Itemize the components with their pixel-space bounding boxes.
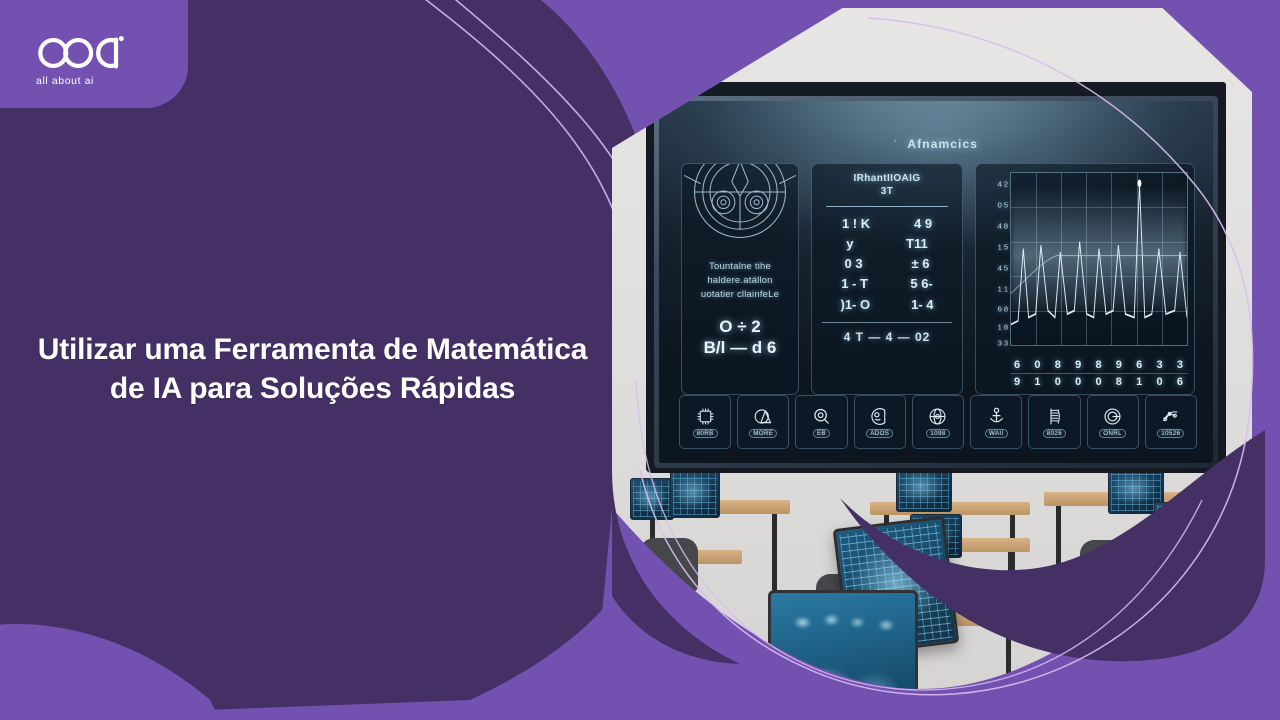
chart-digit: 8 (1095, 359, 1102, 371)
monitor-left-a (630, 478, 674, 520)
whiteboard-frame: 'Afnamcics (654, 96, 1218, 468)
chart-digit: 1 (1034, 376, 1041, 388)
title-text: Afnamcics (907, 137, 978, 151)
equations-heading: IRhantIIOAIG 3T (812, 173, 962, 197)
toolbar-tile-circle-arrow[interactable]: ONRL (1087, 395, 1139, 449)
equations-divider-2 (822, 322, 952, 323)
chart-digit: 8 (1116, 376, 1123, 388)
pie-slice-icon (753, 406, 774, 427)
logo-tagline: all about ai (36, 75, 156, 87)
spring-coil-icon (1044, 406, 1065, 427)
chart-y-axis: 4 2 0 5 4 8 1 5 4 5 1 1 6 8 1 8 3 3 (984, 172, 1010, 346)
chart-digit: 0 (1034, 359, 1041, 371)
chart-series-line (1011, 173, 1187, 345)
chart-digit: 6 (1136, 359, 1143, 371)
chart-digit: 1 (1136, 376, 1143, 388)
chart-plot (1010, 172, 1188, 346)
chart-digit: 9 (1116, 359, 1123, 371)
panel-diagram-equations: O ÷ 2 B/l — d 6 (682, 316, 798, 359)
chart-area: 4 2 0 5 4 8 1 5 4 5 1 1 6 8 1 8 3 3 (984, 172, 1188, 346)
whiteboard-toolbar: 80RB MORE (679, 395, 1197, 449)
diagram-text-line-3: uotatier cllainfeLe (688, 288, 792, 302)
banner-canvas: all about ai Utilizar uma Ferramenta de … (0, 0, 1280, 720)
eq-cell: 1- 4 (911, 295, 933, 315)
aaa-logo-icon (36, 33, 128, 73)
chart-digit: 6 (1177, 376, 1184, 388)
eq-cell: 5 6- (910, 274, 932, 294)
chart-digit: 3 (1157, 359, 1164, 371)
y-tick: 1 5 (998, 242, 1008, 251)
y-tick: 0 5 (998, 201, 1008, 210)
equations-heading-line-2: 3T (812, 186, 962, 197)
whiteboard-screen: 'Afnamcics (659, 101, 1213, 463)
toolbar-tile-anchor[interactable]: WAII (970, 395, 1022, 449)
chip-board-icon (695, 406, 716, 427)
swirl-doc-icon (869, 406, 890, 427)
circle-arrow-icon (1102, 406, 1123, 427)
eq-cell: )1- O (840, 295, 870, 315)
whiteboard-panels: Tountalne tihe haldere.atállon uotatier … (681, 163, 1195, 395)
chart-digit: 3 (1177, 359, 1184, 371)
brand-logo[interactable]: all about ai (36, 33, 156, 95)
chart-digit: 0 (1095, 376, 1102, 388)
toolbar-tile-network-node[interactable]: 10526 (1145, 395, 1197, 449)
globe-eye-icon (927, 406, 948, 427)
magnifier-icon (811, 406, 832, 427)
student-tablet-foreground (768, 590, 918, 720)
chart-numeric-readout: 6 0 8 9 8 9 6 3 3 (1010, 357, 1188, 390)
hero-image: 'Afnamcics (612, 8, 1252, 708)
chart-digit: 0 (1157, 376, 1164, 388)
chart-digit: 9 (1075, 359, 1082, 371)
tile-label: MORE (749, 429, 777, 438)
eq-cell: ± 6 (912, 254, 930, 274)
tile-label: 1098 (926, 429, 949, 438)
tile-label: 80RB (693, 429, 718, 438)
eq-cell: y (846, 234, 853, 254)
diagram-equation-2: B/l — d 6 (682, 337, 798, 358)
tech-circle-diagram-icon (681, 163, 799, 254)
equations-heading-line-1: IRhantIIOAIG (853, 173, 920, 184)
tile-label: 8026 (1043, 429, 1066, 438)
tile-label: ADOS (866, 429, 893, 438)
page-title: Utilizar uma Ferramenta de Matemática de… (0, 330, 625, 408)
y-tick: 1 1 (998, 284, 1008, 293)
y-tick: 4 2 (998, 180, 1008, 189)
y-tick: 4 8 (998, 221, 1008, 230)
toolbar-tile-globe-eye[interactable]: 1098 (912, 395, 964, 449)
chart-number-row-2: 9 1 0 0 0 8 1 0 6 (1010, 373, 1188, 390)
eq-cell: 4 9 (914, 214, 932, 234)
eq-cell: 1 - T (841, 274, 868, 294)
monitor-left-b (670, 470, 720, 518)
whiteboard-top-trim (646, 82, 1226, 92)
eq-cell: 0 3 (844, 254, 862, 274)
title-tick: ' (894, 137, 897, 151)
y-tick: 6 8 (998, 305, 1008, 314)
panel-diagram-text: Tountalne tihe haldere.atállon uotatier … (688, 260, 792, 301)
diagram-text-line-2: haldere.atállon (688, 274, 792, 288)
tile-label: 10526 (1157, 429, 1184, 438)
equations-rows: 1 ! K4 9 yT11 0 3± 6 1 - T5 6- )1- O1- 4 (820, 214, 954, 315)
y-tick: 3 3 (998, 338, 1008, 347)
whiteboard-title: 'Afnamcics (659, 137, 1213, 151)
equations-divider (826, 206, 948, 207)
headline-line-1: Utilizar uma Ferramenta de Matemática (0, 330, 625, 369)
panel-chart[interactable]: 4 2 0 5 4 8 1 5 4 5 1 1 6 8 1 8 3 3 (975, 163, 1195, 395)
anchor-icon (986, 406, 1007, 427)
eq-cell: 1 ! K (842, 214, 870, 234)
equations-footer: 4 T — 4 — 02 (820, 330, 954, 344)
y-tick: 1 8 (998, 322, 1008, 331)
chart-digit: 6 (1014, 359, 1021, 371)
chair-left (640, 538, 698, 592)
toolbar-tile-spring-coil[interactable]: 8026 (1028, 395, 1080, 449)
chart-digit: 0 (1075, 376, 1082, 388)
tile-label: EB (813, 429, 830, 438)
y-tick: 4 5 (998, 263, 1008, 272)
monitor-right-b (1154, 502, 1206, 552)
network-node-icon (1160, 406, 1181, 427)
panel-diagram[interactable]: Tountalne tihe haldere.atállon uotatier … (681, 163, 799, 395)
toolbar-tile-pie-slice[interactable]: MORE (737, 395, 789, 449)
toolbar-tile-magnifier[interactable]: EB (795, 395, 847, 449)
chart-digit: 9 (1014, 376, 1021, 388)
panel-equations[interactable]: IRhantIIOAIG 3T 1 ! K4 9 yT11 0 3± 6 1 -… (811, 163, 963, 395)
chart-number-row-1: 6 0 8 9 8 9 6 3 3 (1010, 357, 1188, 373)
classroom-photo: 'Afnamcics (612, 8, 1252, 708)
diagram-equation-1: O ÷ 2 (682, 316, 798, 337)
tile-label: ONRL (1099, 429, 1126, 438)
diagram-text-line-1: Tountalne tihe (688, 260, 792, 274)
tile-label: WAII (985, 429, 1008, 438)
toolbar-tile-swirl-doc[interactable]: ADOS (854, 395, 906, 449)
toolbar-tile-chip-board[interactable]: 80RB (679, 395, 731, 449)
chart-digit: 0 (1055, 376, 1062, 388)
chart-digit: 8 (1055, 359, 1062, 371)
headline-line-2: de IA para Soluções Rápidas (0, 369, 625, 408)
eq-cell: T11 (906, 234, 928, 254)
chair-right (1080, 540, 1142, 598)
